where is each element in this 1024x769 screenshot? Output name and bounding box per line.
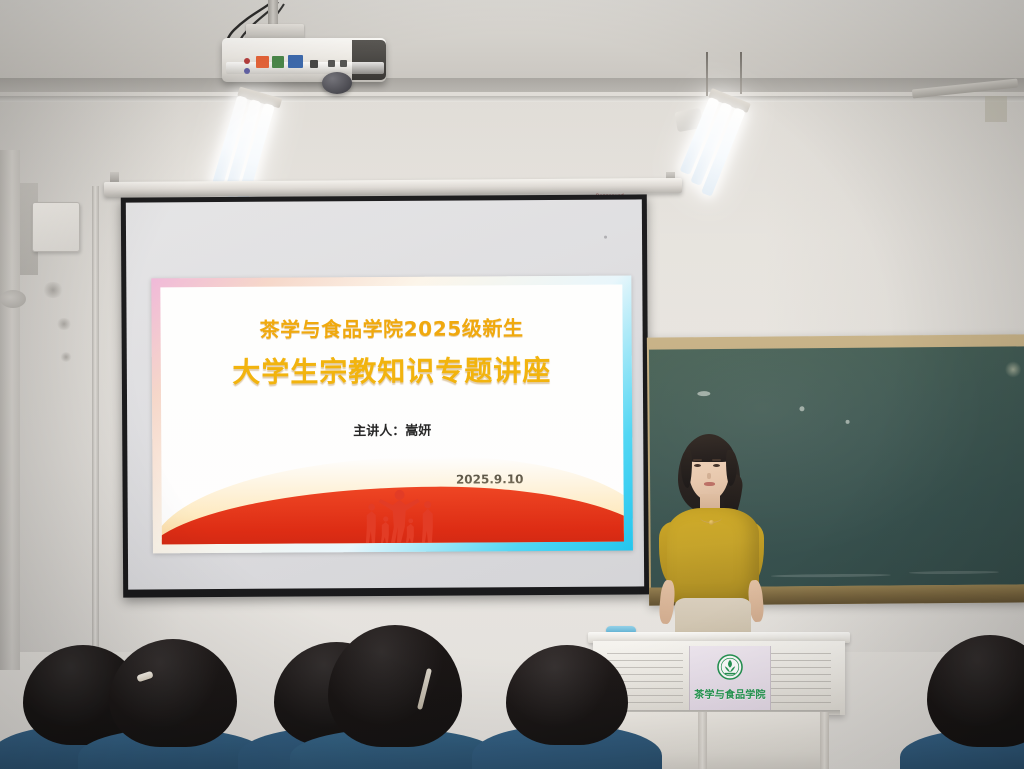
electrical-box	[32, 202, 80, 252]
light-suspension-rod	[740, 52, 742, 94]
projector-port-dark	[310, 60, 318, 68]
projector-led	[244, 58, 250, 64]
wall-plate	[985, 96, 1007, 122]
chalk-mark	[771, 574, 891, 578]
chalk-mark	[799, 406, 804, 411]
eye-right	[713, 464, 720, 467]
wall-smudge	[60, 352, 72, 362]
audience-head	[927, 635, 1024, 747]
audience-head	[328, 625, 462, 747]
projector-port-green	[272, 56, 284, 68]
slide-speaker-line: 主讲人：嵩妍	[161, 419, 623, 441]
eye-left	[694, 464, 701, 467]
mouth	[704, 482, 715, 486]
projector-jack	[244, 68, 250, 74]
chalk-mark	[909, 571, 999, 575]
wall-smudge	[56, 318, 72, 330]
light-suspension-rod	[706, 52, 708, 96]
chalk-mark	[846, 420, 850, 424]
screen-surface: 茶学与食品学院2025级新生 大学生宗教知识专题讲座 主讲人：嵩妍 2025.9…	[126, 199, 644, 589]
audience-row	[0, 609, 1024, 769]
wall-conduit-pipe	[92, 186, 99, 656]
blackboard-chalk-smear	[1005, 360, 1021, 378]
audience-6	[900, 609, 1024, 769]
wall-column-left	[0, 150, 20, 670]
slide-main-title: 大学生宗教知识专题讲座	[161, 349, 623, 392]
wall-disc-fixture	[0, 290, 26, 308]
projection-screen: 茶学与食品学院2025级新生 大学生宗教知识专题讲座 主讲人：嵩妍 2025.9…	[121, 194, 649, 597]
eyebrow-left	[693, 459, 702, 461]
eyebrow-right	[712, 459, 721, 461]
projector-port-dark	[340, 60, 347, 67]
slide-subtitle-line: 茶学与食品学院2025级新生	[160, 312, 622, 344]
audience-head	[109, 639, 237, 747]
audience-head	[506, 645, 628, 745]
classroom-photo: Benesound 茶学与食品学院2025级新生 大学生宗教知识专题讲座 主讲人…	[0, 0, 1024, 769]
projector-port-blue	[288, 55, 303, 68]
slide-people-silhouettes	[348, 483, 458, 544]
nose	[707, 473, 711, 479]
projector-vent	[352, 40, 386, 80]
projector-port-orange	[256, 56, 269, 68]
projector-port-dark	[328, 60, 335, 67]
presentation-slide: 茶学与食品学院2025级新生 大学生宗教知识专题讲座 主讲人：嵩妍 2025.9…	[151, 275, 633, 553]
chalk-mark	[697, 391, 710, 396]
audience-4	[290, 609, 500, 769]
projector-lens	[322, 72, 352, 94]
wall-smudge	[42, 282, 64, 298]
screen-speck	[604, 236, 607, 239]
audience-5	[472, 609, 662, 769]
slide-content-area: 茶学与食品学院2025级新生 大学生宗教知识专题讲座 主讲人：嵩妍 2025.9…	[160, 285, 624, 545]
necklace-pendant	[709, 520, 714, 525]
